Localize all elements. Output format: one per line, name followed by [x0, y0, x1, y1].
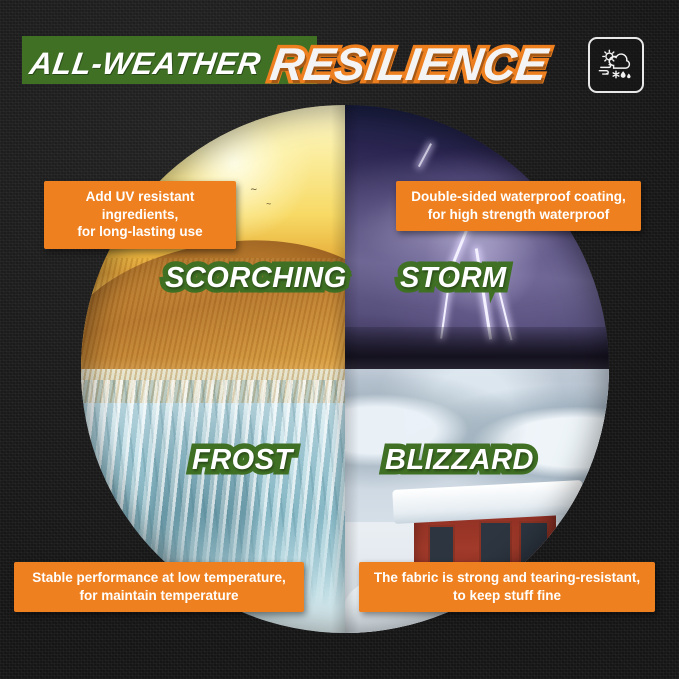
caption-storm: Double-sided waterproof coating, for hig…: [396, 181, 641, 231]
cabin-window: [479, 521, 512, 567]
caption-blizzard: The fabric is strong and tearing-resista…: [359, 562, 655, 612]
caption-frost: Stable performance at low temperature, f…: [14, 562, 304, 612]
page-title-secondary: RESILIENCE: [267, 37, 551, 91]
caption-line-2: for maintain temperature: [24, 587, 294, 605]
caption-line-2: for long-lasting use: [54, 223, 226, 241]
caption-line-1: Add UV resistant ingredients,: [54, 188, 226, 223]
cabin-window: [519, 521, 549, 567]
page-title-primary: ALL-WEATHER: [27, 46, 263, 82]
label-storm: STORM: [400, 262, 507, 295]
caption-line-2: for high strength waterproof: [406, 206, 631, 224]
caption-line-1: The fabric is strong and tearing-resista…: [369, 569, 645, 587]
bird-icon: ∼: [250, 184, 258, 195]
label-blizzard: BLIZZARD: [385, 444, 534, 477]
caption-line-2: to keep stuff fine: [369, 587, 645, 605]
caption-line-1: Stable performance at low temperature,: [24, 569, 294, 587]
label-frost: FROST: [192, 444, 293, 477]
caption-scorching: Add UV resistant ingredients, for long-l…: [44, 181, 236, 249]
header-banner: ALL-WEATHER RESILIENCE: [0, 28, 679, 100]
caption-line-1: Double-sided waterproof coating,: [406, 188, 631, 206]
label-scorching: SCORCHING: [165, 262, 347, 295]
dark-treeline: [345, 327, 609, 369]
weather-sun-cloud-wind-snow-rain-icon: [588, 37, 644, 93]
bird-icon: ∼: [266, 200, 272, 208]
quadrant-storm: [345, 105, 609, 369]
storm-scene: [345, 105, 609, 369]
